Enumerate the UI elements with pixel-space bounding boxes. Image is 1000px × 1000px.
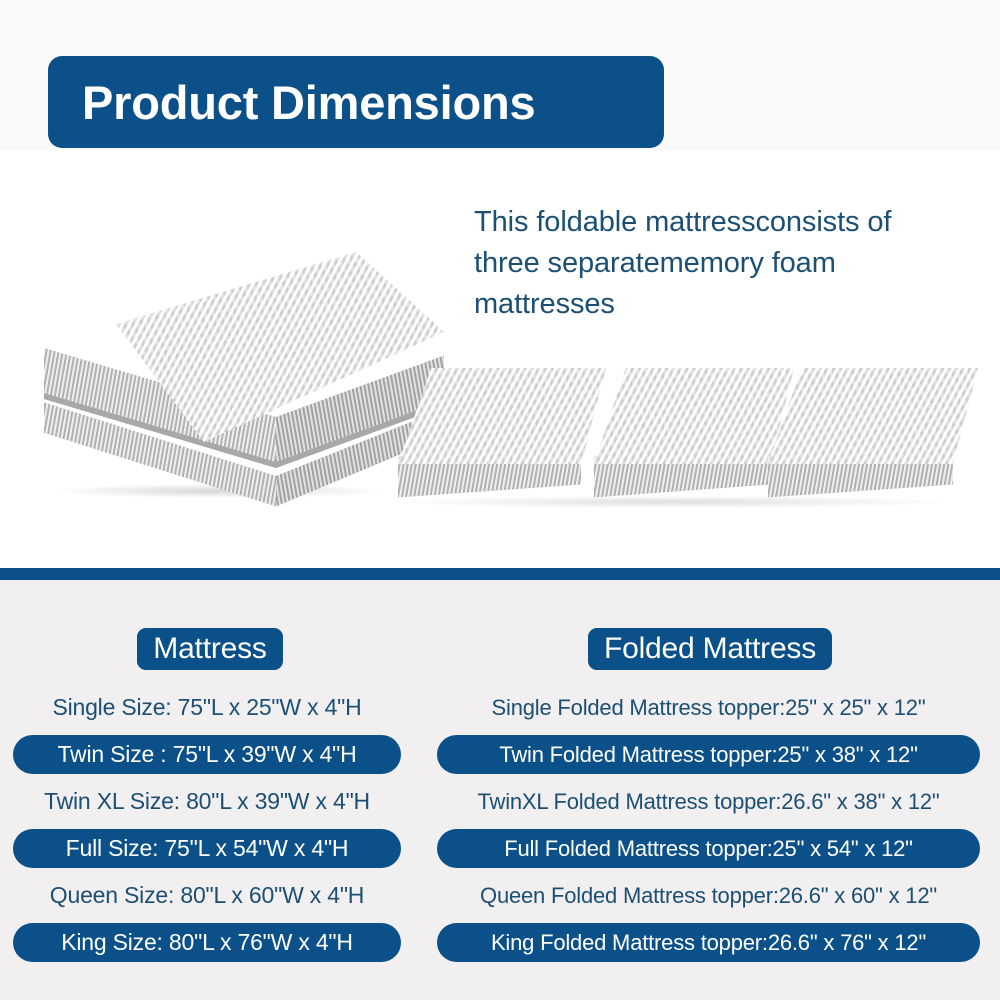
specifications-section: Mattress Single Size: 75"L x 25"W x 4"H … bbox=[0, 580, 1000, 1000]
spec-row: King Size: 80"L x 76"W x 4"H bbox=[13, 923, 401, 962]
spec-row: Twin XL Size: 80"L x 39"W x 4"H bbox=[13, 782, 401, 821]
spec-row-label: Twin Size : 75"L x 39"W x 4"H bbox=[57, 741, 356, 768]
spec-row-label: Full Folded Mattress topper:25" x 54" x … bbox=[504, 836, 913, 862]
folded-mattress-dimensions-list: Single Folded Mattress topper:25" x 25" … bbox=[420, 688, 1000, 962]
unfolded-trifold-mattress-photo bbox=[398, 368, 958, 518]
spec-row-label: King Folded Mattress topper:26.6" x 76" … bbox=[491, 930, 926, 956]
spec-row: TwinXL Folded Mattress topper:26.6" x 38… bbox=[437, 782, 980, 821]
spec-row: Single Folded Mattress topper:25" x 25" … bbox=[437, 688, 980, 727]
hero-section: Product Dimensions This foldable mattres… bbox=[0, 0, 1000, 568]
spec-row-label: Queen Folded Mattress topper:26.6" x 60"… bbox=[480, 883, 937, 909]
mattress-panel-top-face bbox=[768, 368, 978, 464]
mattress-dimensions-column: Mattress Single Size: 75"L x 25"W x 4"H … bbox=[0, 580, 420, 970]
section-divider bbox=[0, 568, 1000, 580]
spec-row-label: Full Size: 75"L x 54"W x 4"H bbox=[66, 835, 349, 862]
spec-row-label: Queen Size: 80"L x 60"W x 4"H bbox=[50, 882, 364, 909]
spec-row-label: TwinXL Folded Mattress topper:26.6" x 38… bbox=[477, 789, 939, 815]
column-header-label: Mattress bbox=[153, 632, 266, 666]
column-header-label: Folded Mattress bbox=[604, 632, 816, 666]
spec-row-label: Twin Folded Mattress topper:25" x 38" x … bbox=[499, 742, 917, 768]
product-dimensions-infographic: Product Dimensions This foldable mattres… bbox=[0, 0, 1000, 1000]
spec-row-label: Single Size: 75"L x 25"W x 4"H bbox=[52, 694, 361, 721]
spec-row-label: Single Folded Mattress topper:25" x 25" … bbox=[492, 695, 926, 721]
mattress-panel bbox=[768, 368, 978, 508]
title-banner: Product Dimensions bbox=[48, 56, 664, 148]
spec-row: Twin Folded Mattress topper:25" x 38" x … bbox=[437, 735, 980, 774]
mattress-panel-top-face bbox=[594, 368, 794, 464]
mattress-panel-top-face bbox=[398, 368, 606, 464]
spec-row: King Folded Mattress topper:26.6" x 76" … bbox=[437, 923, 980, 962]
spec-row: Queen Folded Mattress topper:26.6" x 60"… bbox=[437, 876, 980, 915]
spec-row: Single Size: 75"L x 25"W x 4"H bbox=[13, 688, 401, 727]
mattress-panel bbox=[594, 368, 794, 508]
spec-row: Queen Size: 80"L x 60"W x 4"H bbox=[13, 876, 401, 915]
mattress-dimensions-list: Single Size: 75"L x 25"W x 4"H Twin Size… bbox=[0, 688, 420, 962]
spec-row: Full Size: 75"L x 54"W x 4"H bbox=[13, 829, 401, 868]
mattress-panel bbox=[398, 368, 606, 508]
spec-row: Full Folded Mattress topper:25" x 54" x … bbox=[437, 829, 980, 868]
column-header-folded-mattress: Folded Mattress bbox=[588, 628, 832, 670]
spec-row: Twin Size : 75"L x 39"W x 4"H bbox=[13, 735, 401, 774]
spec-row-label: King Size: 80"L x 76"W x 4"H bbox=[61, 929, 353, 956]
column-header-mattress: Mattress bbox=[137, 628, 282, 670]
folded-mattress-dimensions-column: Folded Mattress Single Folded Mattress t… bbox=[420, 580, 1000, 970]
hero-description: This foldable mattressconsists of three … bbox=[474, 202, 944, 325]
spec-row-label: Twin XL Size: 80"L x 39"W x 4"H bbox=[44, 788, 370, 815]
page-title: Product Dimensions bbox=[82, 75, 535, 130]
